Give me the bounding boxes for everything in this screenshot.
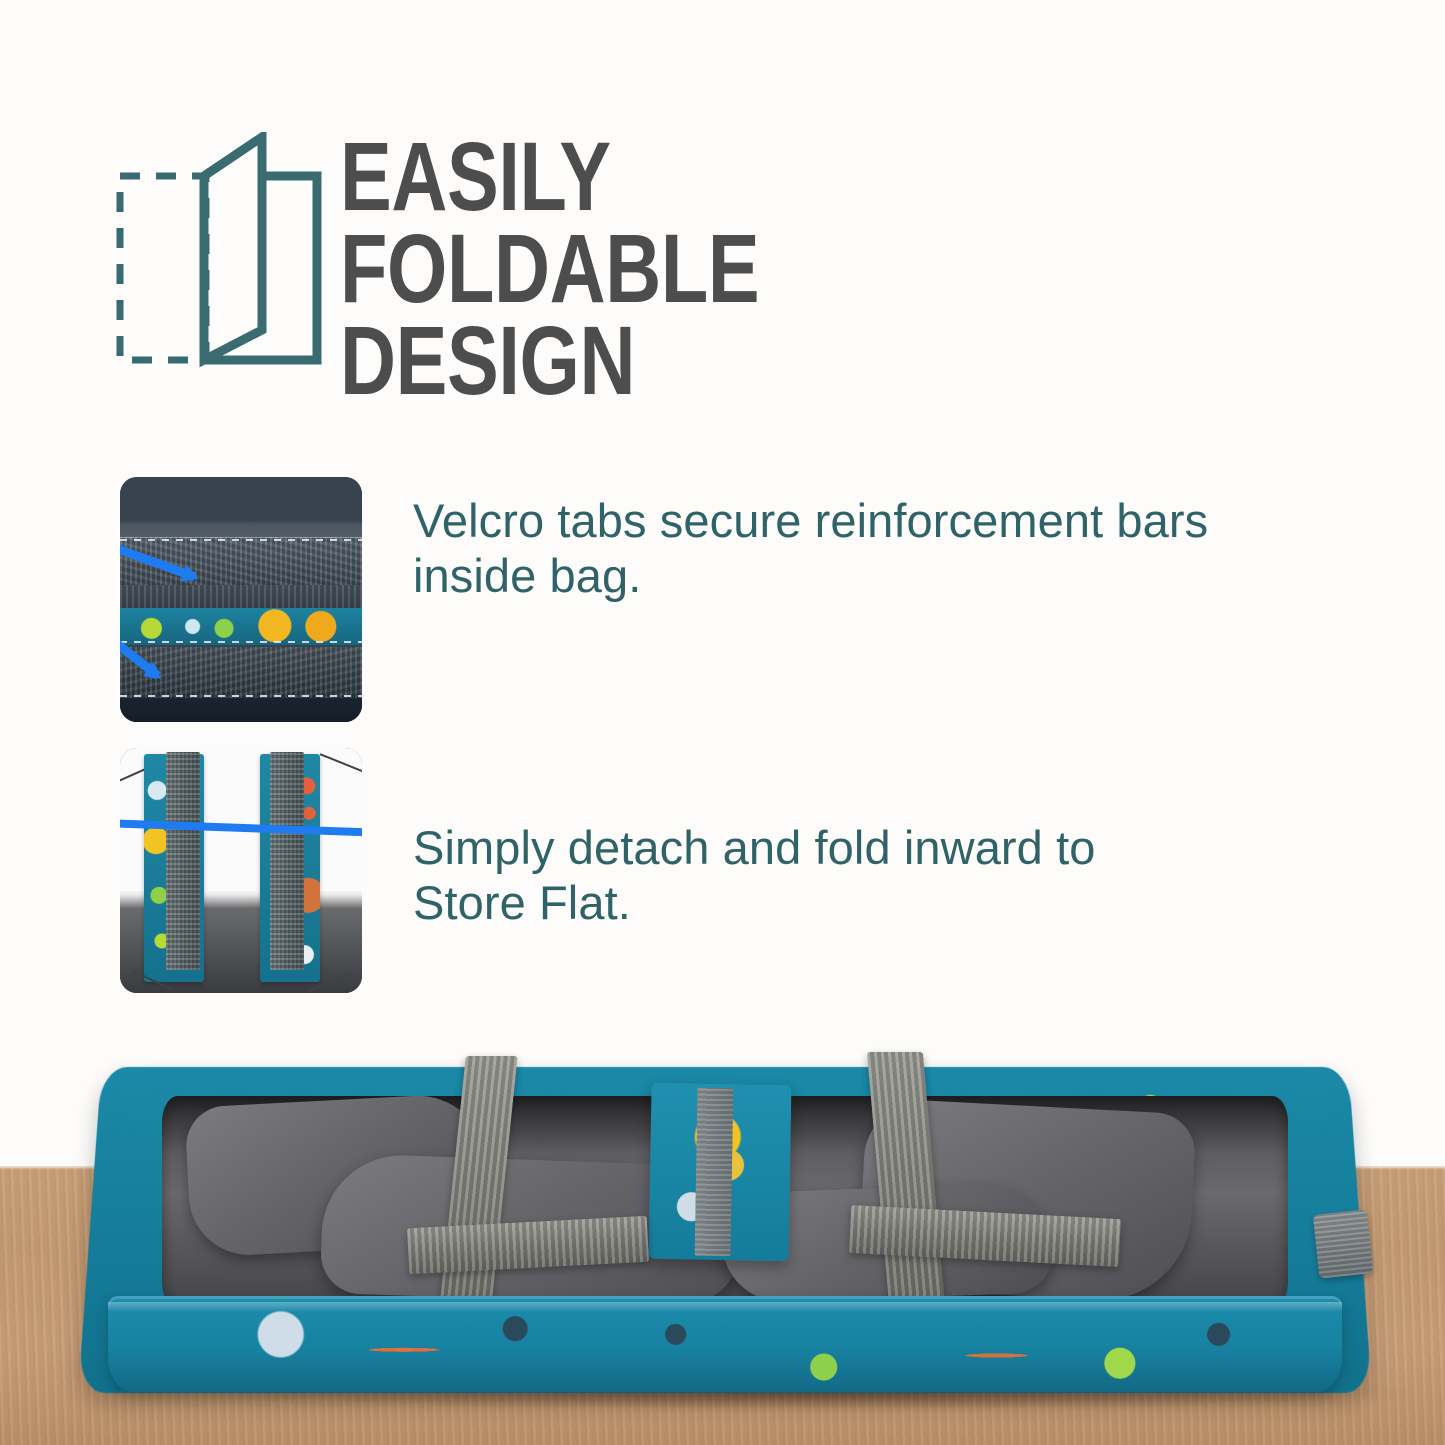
foldable-panel-icon [112,132,322,372]
velcro-straps-detached-photo [120,748,362,993]
page-title: EASILY FOLDABLE DESIGN [340,131,1028,407]
side-velcro-tab [1313,1209,1373,1278]
infographic-canvas: EASILY FOLDABLE DESIGN Velcro tabs secur… [0,0,1445,1445]
hero-product-photo [0,1000,1445,1445]
feature-row-velcro-tabs: Velcro tabs secure reinforcement bars in… [0,477,1445,727]
bag-front-panel [108,1296,1342,1392]
front-panel-highlight [108,1302,1342,1312]
stitch-line-bottom [120,695,362,697]
stitch-line-upper [120,539,362,541]
travel-bed-bag [90,1062,1360,1392]
reinforcement-bar-sleeve [648,1083,791,1261]
stitch-line-lower [120,641,362,643]
velcro-face-right [270,752,304,970]
velcro-tabs-closeup-photo [120,477,362,722]
velcro-face-left [166,752,200,970]
feature-row-detach-fold: Simply detach and fold inward to Store F… [0,748,1445,998]
feature-text-detach-fold: Simply detach and fold inward to Store F… [413,748,1173,931]
printed-fabric-band [120,608,362,645]
feature-text-velcro-tabs: Velcro tabs secure reinforcement bars in… [413,477,1243,604]
header-section: EASILY FOLDABLE DESIGN [0,0,1445,400]
sleeve-velcro-strip [695,1088,734,1257]
bag-body-shadow [120,698,362,722]
